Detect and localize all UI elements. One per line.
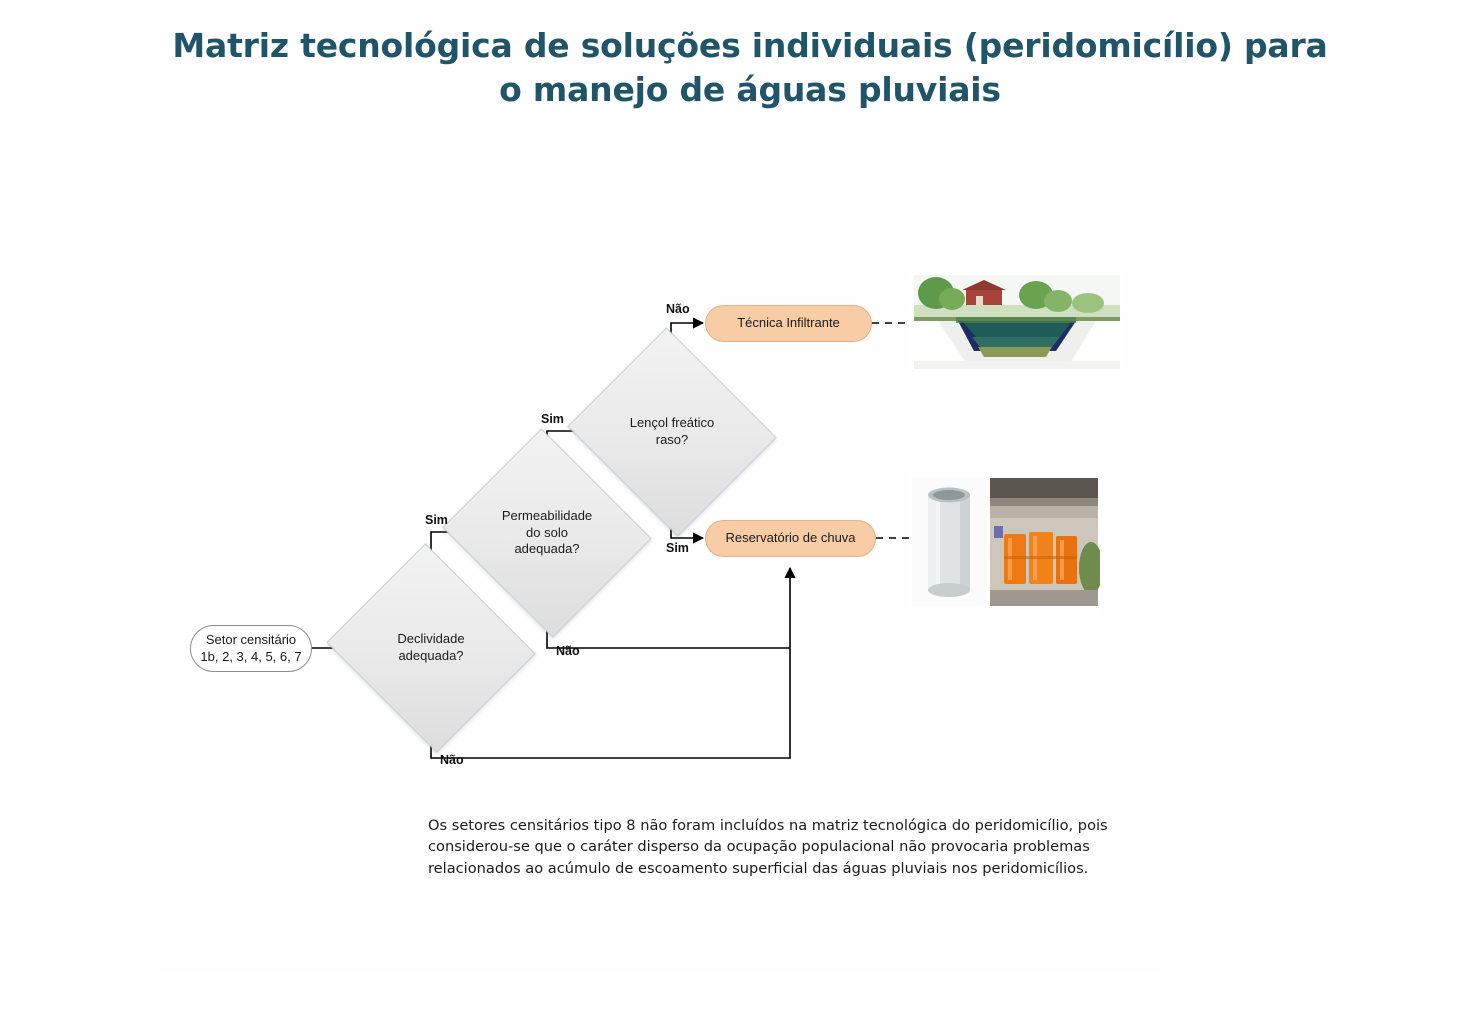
edge-label-declividade-nao: Não xyxy=(440,753,464,767)
edge-label-lencol-sim: Sim xyxy=(666,541,689,555)
node-start-setor-censitario[interactable]: Setor censitário 1b, 2, 3, 4, 5, 6, 7 xyxy=(190,625,312,672)
node-terminal-tecnica-infiltrante-label: Técnica Infiltrante xyxy=(737,315,840,332)
edge-label-permeabilidade-nao: Não xyxy=(556,644,580,658)
node-decision-lencol-freatico[interactable]: Lençol freático raso? xyxy=(594,362,750,502)
edge-label-permeabilidade-sim: Sim xyxy=(541,412,564,426)
page-title-line-1: Matriz tecnológica de soluções individua… xyxy=(120,24,1380,68)
node-start-label: Setor censitário 1b, 2, 3, 4, 5, 6, 7 xyxy=(200,632,301,665)
page-root: Matriz tecnológica de soluções individua… xyxy=(0,0,1462,1026)
node-terminal-tecnica-infiltrante[interactable]: Técnica Infiltrante xyxy=(705,305,872,342)
node-decision-lencol-freatico-label: Lençol freático raso? xyxy=(624,415,721,448)
edge-label-declividade-sim: Sim xyxy=(425,513,448,527)
node-terminal-reservatorio-de-chuva-label: Reservatório de chuva xyxy=(725,530,855,547)
node-decision-declividade-label: Declividade adequada? xyxy=(391,631,470,664)
node-decision-permeabilidade-label: Permeabilidade do solo adequada? xyxy=(496,508,598,558)
node-terminal-reservatorio-de-chuva[interactable]: Reservatório de chuva xyxy=(705,520,876,557)
page-title: Matriz tecnológica de soluções individua… xyxy=(120,24,1380,111)
page-title-line-2: o manejo de águas pluviais xyxy=(120,68,1380,112)
footnote-text: Os setores censitários tipo 8 não foram … xyxy=(428,815,1140,880)
infiltration-basin-illustration xyxy=(910,271,1124,371)
rain-reservoir-photo xyxy=(910,472,1100,614)
edge-label-lencol-nao: Não xyxy=(666,302,690,316)
